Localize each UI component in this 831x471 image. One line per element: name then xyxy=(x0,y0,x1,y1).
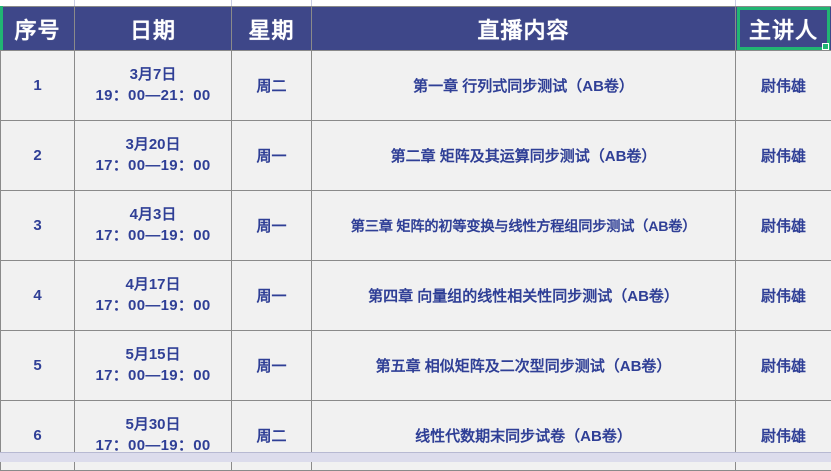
cell-presenter[interactable]: 尉伟雄 xyxy=(736,261,831,331)
cell-week[interactable]: 周一 xyxy=(232,331,312,401)
cell-date-time: 17：00—19：00 xyxy=(75,155,231,177)
cell-date-day: 5月15日 xyxy=(75,345,231,365)
cell-no[interactable]: 3 xyxy=(1,191,75,261)
cell-content[interactable]: 第二章 矩阵及其运算同步测试（AB卷） xyxy=(312,121,736,191)
cell-date[interactable]: 3月20日 17：00—19：00 xyxy=(75,121,232,191)
sheet-bottom-band xyxy=(0,452,831,462)
cell-content[interactable]: 第五章 相似矩阵及二次型同步测试（AB卷） xyxy=(312,331,736,401)
column-header-presenter-label: 主讲人 xyxy=(749,18,818,43)
cell-date[interactable]: 3月7日 19：00—21：00 xyxy=(75,51,232,121)
table-row[interactable]: 2 3月20日 17：00—19：00 周一 第二章 矩阵及其运算同步测试（AB… xyxy=(1,121,831,191)
cell-date[interactable]: 4月3日 17：00—19：00 xyxy=(75,191,232,261)
schedule-table: 序号 日期 星期 直播内容 主讲人 1 3月7日 19：00—21：00 xyxy=(0,6,831,471)
cell-date[interactable]: 4月17日 17：00—19：00 xyxy=(75,261,232,331)
selection-fill-handle[interactable] xyxy=(822,43,829,50)
cell-presenter[interactable]: 尉伟雄 xyxy=(736,191,831,261)
column-header-date[interactable]: 日期 xyxy=(75,7,232,51)
cell-date-day: 3月7日 xyxy=(75,65,231,85)
table-row[interactable]: 5 5月15日 17：00—19：00 周一 第五章 相似矩阵及二次型同步测试（… xyxy=(1,331,831,401)
cell-content[interactable]: 第三章 矩阵的初等变换与线性方程组同步测试（AB卷） xyxy=(312,191,736,261)
cell-presenter[interactable]: 尉伟雄 xyxy=(736,51,831,121)
cell-no[interactable]: 1 xyxy=(1,51,75,121)
cell-content[interactable]: 第四章 向量组的线性相关性同步测试（AB卷） xyxy=(312,261,736,331)
column-header-presenter[interactable]: 主讲人 xyxy=(736,7,831,51)
table-row[interactable]: 4 4月17日 17：00—19：00 周一 第四章 向量组的线性相关性同步测试… xyxy=(1,261,831,331)
cell-date-time: 17：00—19：00 xyxy=(75,225,231,247)
spreadsheet-schedule-table: 序号 日期 星期 直播内容 主讲人 1 3月7日 19：00—21：00 xyxy=(0,0,831,462)
table-row[interactable]: 1 3月7日 19：00—21：00 周二 第一章 行列式同步测试（AB卷） 尉… xyxy=(1,51,831,121)
cell-week[interactable]: 周一 xyxy=(232,261,312,331)
selection-left-edge xyxy=(0,6,3,50)
cell-date-day: 3月20日 xyxy=(75,135,231,155)
cell-date[interactable]: 5月15日 17：00—19：00 xyxy=(75,331,232,401)
cell-date-day: 4月3日 xyxy=(75,205,231,225)
cell-week[interactable]: 周一 xyxy=(232,121,312,191)
cell-week[interactable]: 周二 xyxy=(232,51,312,121)
cell-content[interactable]: 第一章 行列式同步测试（AB卷） xyxy=(312,51,736,121)
cell-presenter[interactable]: 尉伟雄 xyxy=(736,331,831,401)
cell-date-time: 19：00—21：00 xyxy=(75,85,231,107)
cell-presenter[interactable]: 尉伟雄 xyxy=(736,121,831,191)
cell-date-day: 5月30日 xyxy=(75,415,231,435)
cell-no[interactable]: 5 xyxy=(1,331,75,401)
table-header-row: 序号 日期 星期 直播内容 主讲人 xyxy=(1,7,831,51)
cell-date-time: 17：00—19：00 xyxy=(75,295,231,317)
cell-no[interactable]: 2 xyxy=(1,121,75,191)
column-header-content[interactable]: 直播内容 xyxy=(312,7,736,51)
cell-week[interactable]: 周一 xyxy=(232,191,312,261)
column-header-no[interactable]: 序号 xyxy=(1,7,75,51)
column-header-week[interactable]: 星期 xyxy=(232,7,312,51)
cell-date-time: 17：00—19：00 xyxy=(75,365,231,387)
cell-no[interactable]: 4 xyxy=(1,261,75,331)
table-row[interactable]: 3 4月3日 17：00—19：00 周一 第三章 矩阵的初等变换与线性方程组同… xyxy=(1,191,831,261)
cell-date-day: 4月17日 xyxy=(75,275,231,295)
